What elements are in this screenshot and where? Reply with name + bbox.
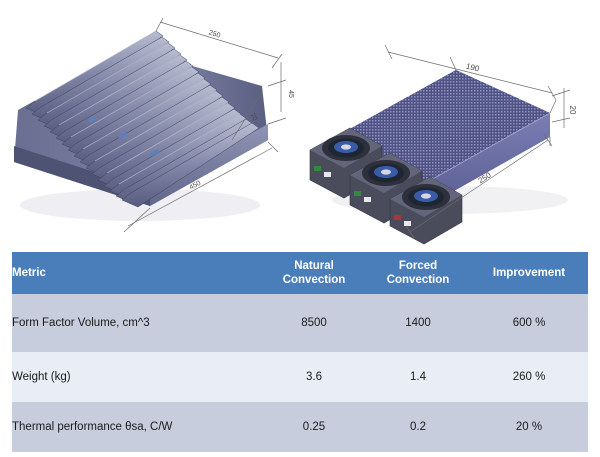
table-row: Weight (kg) 3.6 1.4 260 %	[12, 352, 588, 402]
row-0-forced: 1400	[366, 294, 470, 352]
row-1-forced: 1.4	[366, 352, 470, 402]
row-1-improvement: 260 %	[470, 352, 588, 402]
table-row: Form Factor Volume, cm^3 8500 1400 600 %	[12, 294, 588, 352]
header-forced-line2: Convection	[366, 273, 470, 287]
row-0-natural: 8500	[262, 294, 366, 352]
header-improvement: Improvement	[470, 252, 588, 294]
row-0-improvement: 600 %	[470, 294, 588, 352]
natural-heatsink-drawing: 250 45 70 450	[0, 0, 300, 248]
row-2-natural: 0.25	[262, 402, 366, 452]
header-metric: Metric	[12, 252, 262, 294]
header-natural-line2: Convection	[262, 273, 366, 287]
comparison-table: Metric Natural Convection Forced Convect…	[12, 252, 588, 452]
row-2-metric: Thermal performance θsa, C/W	[12, 402, 262, 452]
dimension-label-250: 250	[208, 30, 221, 40]
dimension-label-45: 45	[287, 90, 294, 98]
header-natural-convection: Natural Convection	[262, 252, 366, 294]
table-row: Thermal performance θsa, C/W 0.25 0.2 20…	[12, 402, 588, 452]
row-0-metric: Form Factor Volume, cm^3	[12, 294, 262, 352]
row-2-improvement: 20 %	[470, 402, 588, 452]
row-2-forced: 0.2	[366, 402, 470, 452]
forced-heatsink-drawing: 190 20 250	[300, 0, 600, 248]
header-natural-line1: Natural	[262, 259, 366, 273]
figure-row: 250 45 70 450	[0, 0, 600, 248]
row-1-natural: 3.6	[262, 352, 366, 402]
header-forced-convection: Forced Convection	[366, 252, 470, 294]
row-1-metric: Weight (kg)	[12, 352, 262, 402]
forced-convection-heatsink-figure: 190 20 250	[300, 0, 600, 248]
dimension-label-20: 20	[568, 106, 577, 115]
fin-array	[26, 31, 259, 207]
header-forced-line1: Forced	[366, 259, 470, 273]
natural-convection-heatsink-figure: 250 45 70 450	[0, 0, 300, 248]
table-header-row: Metric Natural Convection Forced Convect…	[12, 252, 588, 294]
